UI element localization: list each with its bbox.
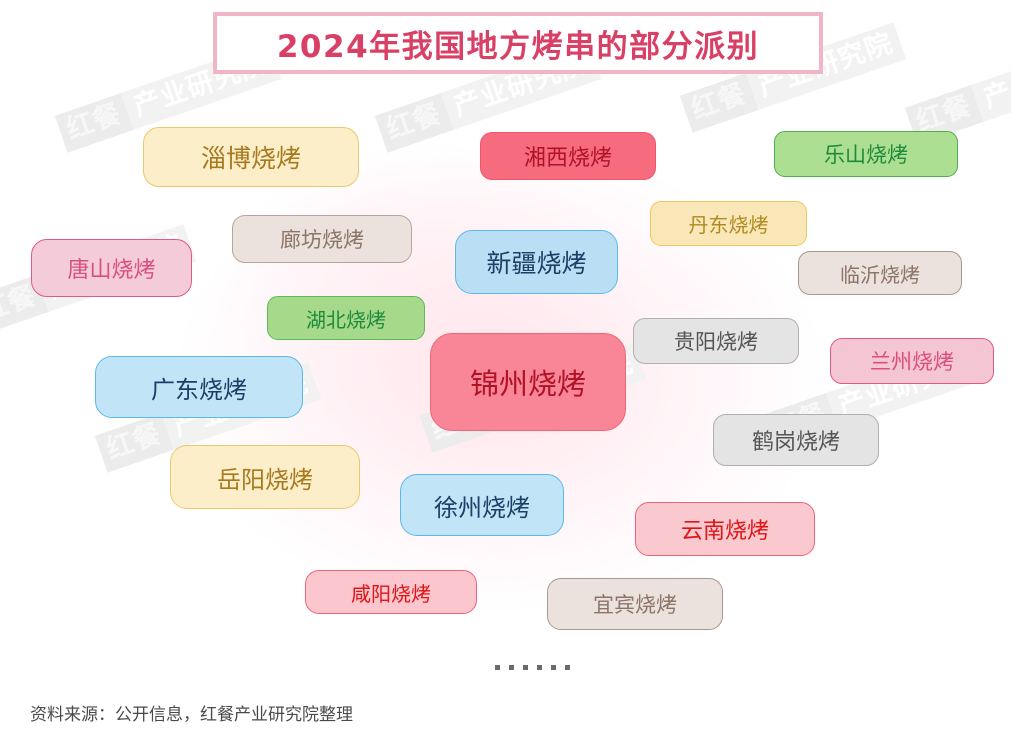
infographic-canvas: 红餐产业研究院红餐产业研究院红餐产业研究院红餐产业研究院红餐产业研究院红餐产业研… — [0, 0, 1011, 739]
bbq-style-tag[interactable]: 云南烧烤 — [635, 502, 815, 556]
bbq-style-tag[interactable]: 丹东烧烤 — [650, 201, 807, 246]
ellipsis-dot — [495, 665, 500, 670]
ellipsis-dot — [509, 665, 514, 670]
page-title-box: 2024年我国地方烤串的部分派别 — [213, 12, 823, 74]
ellipsis-dot — [537, 665, 542, 670]
watermark-plain-text: 产业研究院 — [971, 34, 1011, 122]
bbq-style-tag[interactable]: 淄博烧烤 — [143, 127, 359, 187]
bbq-style-tag[interactable]: 临沂烧烤 — [798, 251, 962, 295]
watermark-badge-text: 红餐 — [95, 413, 174, 473]
page-title: 2024年我国地方烤串的部分派别 — [277, 21, 759, 66]
bbq-style-tag[interactable]: 岳阳烧烤 — [170, 445, 360, 509]
bbq-style-tag[interactable]: 鹤岗烧烤 — [713, 414, 879, 466]
bbq-style-tag[interactable]: 新疆烧烤 — [455, 230, 618, 294]
bbq-style-tag[interactable]: 锦州烧烤 — [430, 333, 626, 431]
watermark-badge-text: 红餐 — [680, 73, 759, 133]
source-note: 资料来源：公开信息，红餐产业研究院整理 — [30, 700, 353, 725]
bbq-style-tag[interactable]: 徐州烧烤 — [400, 474, 564, 536]
bbq-style-tag[interactable]: 宜宾烧烤 — [547, 578, 723, 630]
ellipsis-dot — [565, 665, 570, 670]
bbq-style-tag[interactable]: 乐山烧烤 — [774, 131, 958, 177]
bbq-style-tag[interactable]: 唐山烧烤 — [31, 239, 192, 297]
ellipsis-dot — [551, 665, 556, 670]
ellipsis-dots — [495, 665, 570, 670]
bbq-style-tag[interactable]: 湘西烧烤 — [480, 132, 656, 180]
bbq-style-tag[interactable]: 湖北烧烤 — [267, 296, 425, 340]
bbq-style-tag[interactable]: 咸阳烧烤 — [305, 570, 477, 614]
watermark-badge-text: 红餐 — [55, 93, 134, 153]
ellipsis-dot — [523, 665, 528, 670]
watermark-badge-text: 红餐 — [375, 93, 454, 153]
bbq-style-tag[interactable]: 兰州烧烤 — [830, 338, 994, 384]
bbq-style-tag[interactable]: 廊坊烧烤 — [232, 215, 412, 263]
bbq-style-tag[interactable]: 广东烧烤 — [95, 356, 303, 418]
watermark: 红餐产业研究院 — [905, 34, 1011, 144]
bbq-style-tag[interactable]: 贵阳烧烤 — [633, 318, 799, 364]
